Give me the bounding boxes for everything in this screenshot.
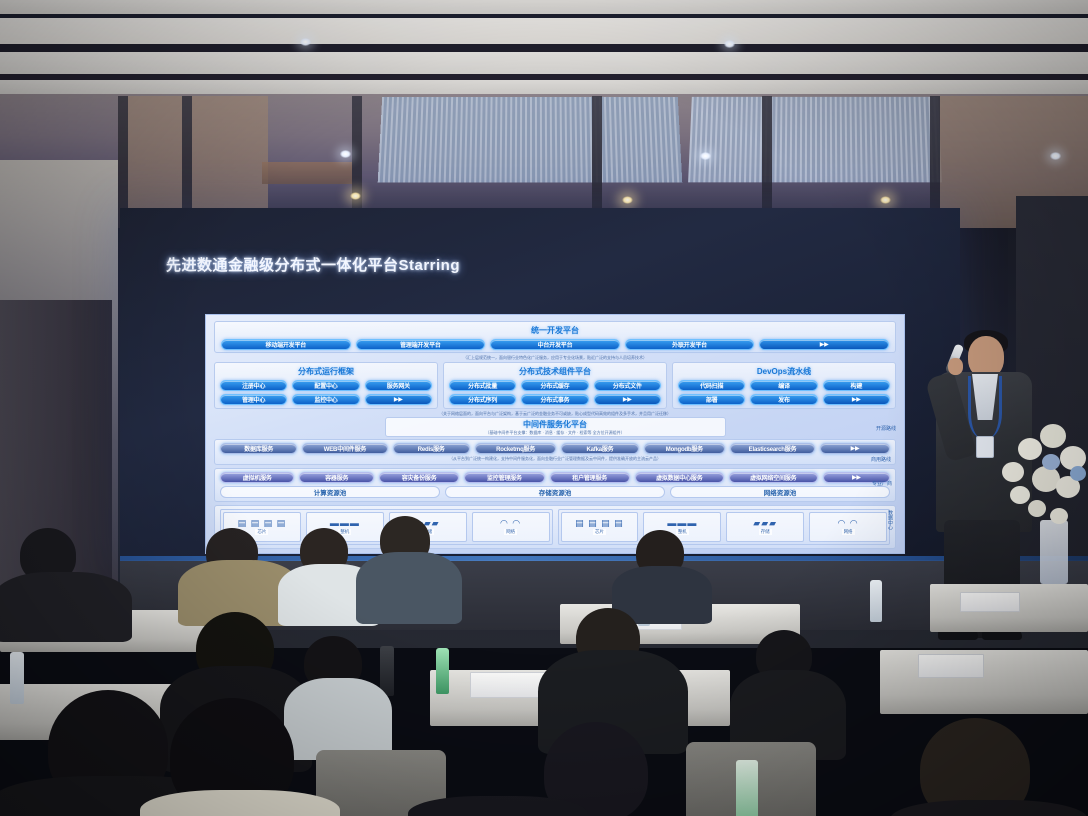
tech-item-file[interactable]: 分布式文件: [594, 380, 661, 391]
speaker-badge: [976, 436, 994, 458]
water-bottle-5: [380, 646, 394, 696]
ceiling-band-2: [0, 18, 1088, 44]
network-icon-2: ◠ ◠: [837, 519, 858, 528]
runtime-item-config[interactable]: 配置中心: [292, 380, 359, 391]
water-bottle-6: [436, 648, 449, 694]
table-mid-far-right: [880, 650, 1088, 714]
runtime-item-registry[interactable]: 注册中心: [220, 380, 287, 391]
virt-item-monitor[interactable]: 监控管理服务: [464, 472, 544, 483]
hardware-cell-network-1: ◠ ◠ 网络: [472, 512, 550, 542]
hardware-cell-storage-2: ▰▰▰ 存储: [726, 512, 804, 542]
resource-pools: 计算资源池 存储资源池 网络资源池: [220, 486, 890, 498]
unified-dev-platform-panel: 统一开发平台 移动端开发平台 管理端开发平台 中台开发平台 外联开发平台 ▶▶: [214, 321, 896, 353]
hardware-label-storage-2: 存储: [759, 529, 772, 535]
runtime-item-manage[interactable]: 管理中心: [220, 394, 287, 405]
middleware-item-kafka[interactable]: Kafka服务: [561, 443, 638, 454]
tech-item-transaction[interactable]: 分布式事务: [521, 394, 588, 405]
speaker-lanyard: [968, 376, 1002, 438]
middleware-item-mongodb[interactable]: Mongodb服务: [644, 443, 725, 454]
middle-tier-panels: 分布式运行框架 注册中心 配置中心 服务网关 管理中心 监控中心 ▶▶ 分布式技…: [214, 362, 896, 409]
runtime-framework-row-2: 管理中心 监控中心 ▶▶: [220, 394, 432, 405]
hardware-label-chip-2: 芯片: [593, 529, 606, 535]
virt-item-container[interactable]: 容器服务: [299, 472, 373, 483]
tech-item-cache[interactable]: 分布式缓存: [521, 380, 588, 391]
devops-item-release[interactable]: 发布: [750, 394, 817, 405]
tech-components-more-button[interactable]: ▶▶: [594, 394, 661, 405]
tech-components-title: 分布式技术组件平台: [449, 366, 661, 377]
ceiling-light-e1: [880, 196, 891, 204]
middleware-panel: 数据库服务 WEB中间件服务 Redis服务 Rocketmq服务 Kafka服…: [214, 439, 896, 465]
middleware-item-redis[interactable]: Redis服务: [393, 443, 470, 454]
middleware-item-web[interactable]: WEB中间件服务: [302, 443, 387, 454]
flower-7: [1010, 486, 1030, 504]
runtime-item-gateway[interactable]: 服务网关: [365, 380, 432, 391]
server-icon: ▬▬▬: [330, 519, 360, 528]
ceiling-band-1: [0, 0, 1088, 14]
tech-item-batch[interactable]: 分布式批量: [449, 380, 516, 391]
middleware-title: 中间件服务化平台: [390, 419, 721, 430]
flower-8: [1028, 500, 1046, 517]
side-label-datacenter: 数据中心: [887, 510, 894, 530]
side-label-opensource: 开源路线: [876, 425, 896, 432]
devops-title: DevOps流水线: [678, 366, 890, 377]
flower-9: [1050, 508, 1068, 524]
devops-item-build[interactable]: 构建: [823, 380, 890, 391]
middleware-title-box: 中间件服务化平台 （基础中间件平台支撑：数据库 · 消息 · 缓存 · 文件 ·…: [385, 417, 726, 437]
virt-item-vm[interactable]: 虚拟机服务: [220, 472, 294, 483]
attendee-body-b2: [284, 678, 392, 760]
virt-item-backup[interactable]: 容灾备份服务: [379, 472, 459, 483]
virt-item-datacenter[interactable]: 虚拟数据中心服务: [635, 472, 724, 483]
virt-item-network-space[interactable]: 虚拟网络空间服务: [729, 472, 818, 483]
dev-platform-footnote: （汇上层规范统一，面向银行业特色化广泛服务，应用于专业化场景，贴近广泛的支持与人…: [214, 355, 896, 360]
virtualization-panel: 虚拟机服务 容器服务 容灾备份服务 监控管理服务 租户管理服务 虚拟数据中心服务…: [214, 468, 896, 502]
tech-components-row-2: 分布式序列 分布式事务 ▶▶: [449, 394, 661, 405]
flower-3: [1040, 424, 1066, 448]
runtime-framework-title: 分布式运行框架: [220, 366, 432, 377]
side-label-commercial: 商用路线: [871, 456, 891, 463]
devops-more-button[interactable]: ▶▶: [823, 394, 890, 405]
virtualization-items: 虚拟机服务 容器服务 容灾备份服务 监控管理服务 租户管理服务 虚拟数据中心服务…: [220, 472, 890, 483]
hardware-cell-network-2: ◠ ◠ 网络: [809, 512, 887, 542]
resource-pool-compute: 计算资源池: [220, 486, 440, 498]
devops-item-compile[interactable]: 编译: [750, 380, 817, 391]
middleware-title-note: （基础中间件平台支撑：数据库 · 消息 · 缓存 · 文件 · 检索等 全方位开…: [390, 430, 721, 435]
flower-blue-2: [1070, 466, 1086, 481]
name-card-3: [960, 592, 1020, 612]
presentation-screen: 先进数通金融级分布式一体化平台Starring 统一开发平台 移动端开发平台 管…: [120, 208, 960, 568]
dev-platform-more-button[interactable]: ▶▶: [759, 339, 889, 350]
virt-item-tenant[interactable]: 租户管理服务: [550, 472, 630, 483]
devops-row-1: 代码扫描 编译 构建: [678, 380, 890, 391]
attendee-body-c2: [140, 790, 340, 816]
network-icon: ◠ ◠: [500, 519, 521, 528]
side-label-vendor: 专业厂商: [872, 480, 892, 487]
storage-icon-2: ▰▰▰: [753, 519, 777, 528]
middleware-item-rocketmq[interactable]: Rocketmq服务: [475, 443, 556, 454]
name-card-5: [918, 654, 984, 678]
ceiling-reveal-2: [0, 44, 1088, 52]
devops-item-code-scan[interactable]: 代码扫描: [678, 380, 745, 391]
unified-dev-platform-title: 统一开发平台: [221, 325, 889, 336]
ceiling-band-4: [0, 80, 1088, 94]
chip-icon: ▤ ▤ ▤ ▤: [238, 519, 287, 528]
runtime-item-monitor[interactable]: 监控中心: [292, 394, 359, 405]
middleware-footnote: （从平台到广泛统一构建化，支持中间件服务化，面向金融行业广泛管理数据及云中间件，…: [220, 456, 890, 461]
runtime-framework-row-1: 注册中心 配置中心 服务网关: [220, 380, 432, 391]
ceiling-light-a2: [724, 40, 735, 48]
audience-area: [0, 600, 1088, 816]
middleware-item-elasticsearch[interactable]: Elasticsearch服务: [730, 443, 815, 454]
resource-pool-network: 网络资源池: [670, 486, 890, 498]
server-icon-2: ▬▬▬: [667, 519, 697, 528]
runtime-framework-panel: 分布式运行框架 注册中心 配置中心 服务网关 管理中心 监控中心 ▶▶: [214, 362, 438, 409]
middleware-item-database[interactable]: 数据库服务: [220, 443, 297, 454]
ceiling-louver-panel-left: [378, 97, 683, 183]
hardware-label-network-2: 网络: [842, 529, 855, 535]
flower-arrangement: [998, 420, 1088, 536]
middleware-items: 数据库服务 WEB中间件服务 Redis服务 Rocketmq服务 Kafka服…: [220, 443, 890, 454]
attendee-body-a4: [356, 552, 462, 624]
hardware-label-chip-1: 芯片: [255, 529, 268, 535]
water-bottle-3: [870, 580, 882, 622]
attendee-body-c4: [890, 800, 1088, 816]
attendee-body-c5: [408, 796, 588, 816]
ceiling-light-a4: [700, 152, 711, 160]
ceiling-light-d1: [622, 196, 633, 204]
ceiling-louver-panel-right: [688, 97, 942, 183]
tech-components-row-1: 分布式批量 分布式缓存 分布式文件: [449, 380, 661, 391]
dev-platform-item-admin[interactable]: 管理端开发平台: [356, 339, 486, 350]
conference-room-photo: 先进数通金融级分布式一体化平台Starring 统一开发平台 移动端开发平台 管…: [0, 0, 1088, 816]
ceiling-light-a3: [340, 150, 351, 158]
slide-architecture-diagram: 统一开发平台 移动端开发平台 管理端开发平台 中台开发平台 外联开发平台 ▶▶ …: [205, 314, 905, 554]
resource-pool-storage: 存储资源池: [445, 486, 665, 498]
chip-icon-2: ▤ ▤ ▤ ▤: [575, 519, 624, 528]
unified-dev-platform-items: 移动端开发平台 管理端开发平台 中台开发平台 外联开发平台 ▶▶: [221, 339, 889, 350]
dev-platform-item-middle[interactable]: 中台开发平台: [490, 339, 620, 350]
slide-title: 先进数通金融级分布式一体化平台Starring: [166, 254, 460, 275]
tech-components-panel: 分布式技术组件平台 分布式批量 分布式缓存 分布式文件 分布式序列 分布式事务 …: [443, 362, 667, 409]
devops-row-2: 部署 发布 ▶▶: [678, 394, 890, 405]
ceiling-light-a1: [300, 38, 311, 46]
flower-2: [1018, 438, 1042, 460]
middle-tier-note: （关于网络层面的，面向平台与广泛架构，基于云广泛的金融业务不可或缺，贴心成型代码…: [214, 411, 896, 416]
devops-item-deploy[interactable]: 部署: [678, 394, 745, 405]
ceiling-light-a5: [1050, 152, 1061, 160]
devops-panel: DevOps流水线 代码扫描 编译 构建 部署 发布 ▶▶: [672, 362, 896, 409]
ceiling: [0, 0, 1088, 232]
flower-blue-1: [1042, 454, 1060, 470]
water-bottle-4: [10, 652, 24, 704]
ceiling-light-c1: [350, 192, 361, 200]
ceiling-band-3: [0, 52, 1088, 74]
runtime-more-button[interactable]: ▶▶: [365, 394, 432, 405]
flower-1: [1002, 462, 1024, 482]
attendee-body-a1: [0, 572, 132, 642]
hardware-label-network-1: 网络: [504, 529, 517, 535]
dev-platform-item-mobile[interactable]: 移动端开发平台: [221, 339, 351, 350]
hardware-label-server-2: 整机: [676, 529, 689, 535]
ceiling-wood-strip: [262, 162, 352, 184]
tech-item-sequence[interactable]: 分布式序列: [449, 394, 516, 405]
hardware-cell-chip-2: ▤ ▤ ▤ ▤ 芯片: [561, 512, 639, 542]
dev-platform-item-external[interactable]: 外联开发平台: [625, 339, 755, 350]
water-bottle-7: [736, 760, 758, 816]
speaker-hand: [948, 358, 963, 375]
hardware-group-2: ▤ ▤ ▤ ▤ 芯片 ▬▬▬ 整机 ▰▰▰ 存储 ◠ ◠: [558, 509, 891, 545]
middleware-more-button[interactable]: ▶▶: [820, 443, 890, 454]
